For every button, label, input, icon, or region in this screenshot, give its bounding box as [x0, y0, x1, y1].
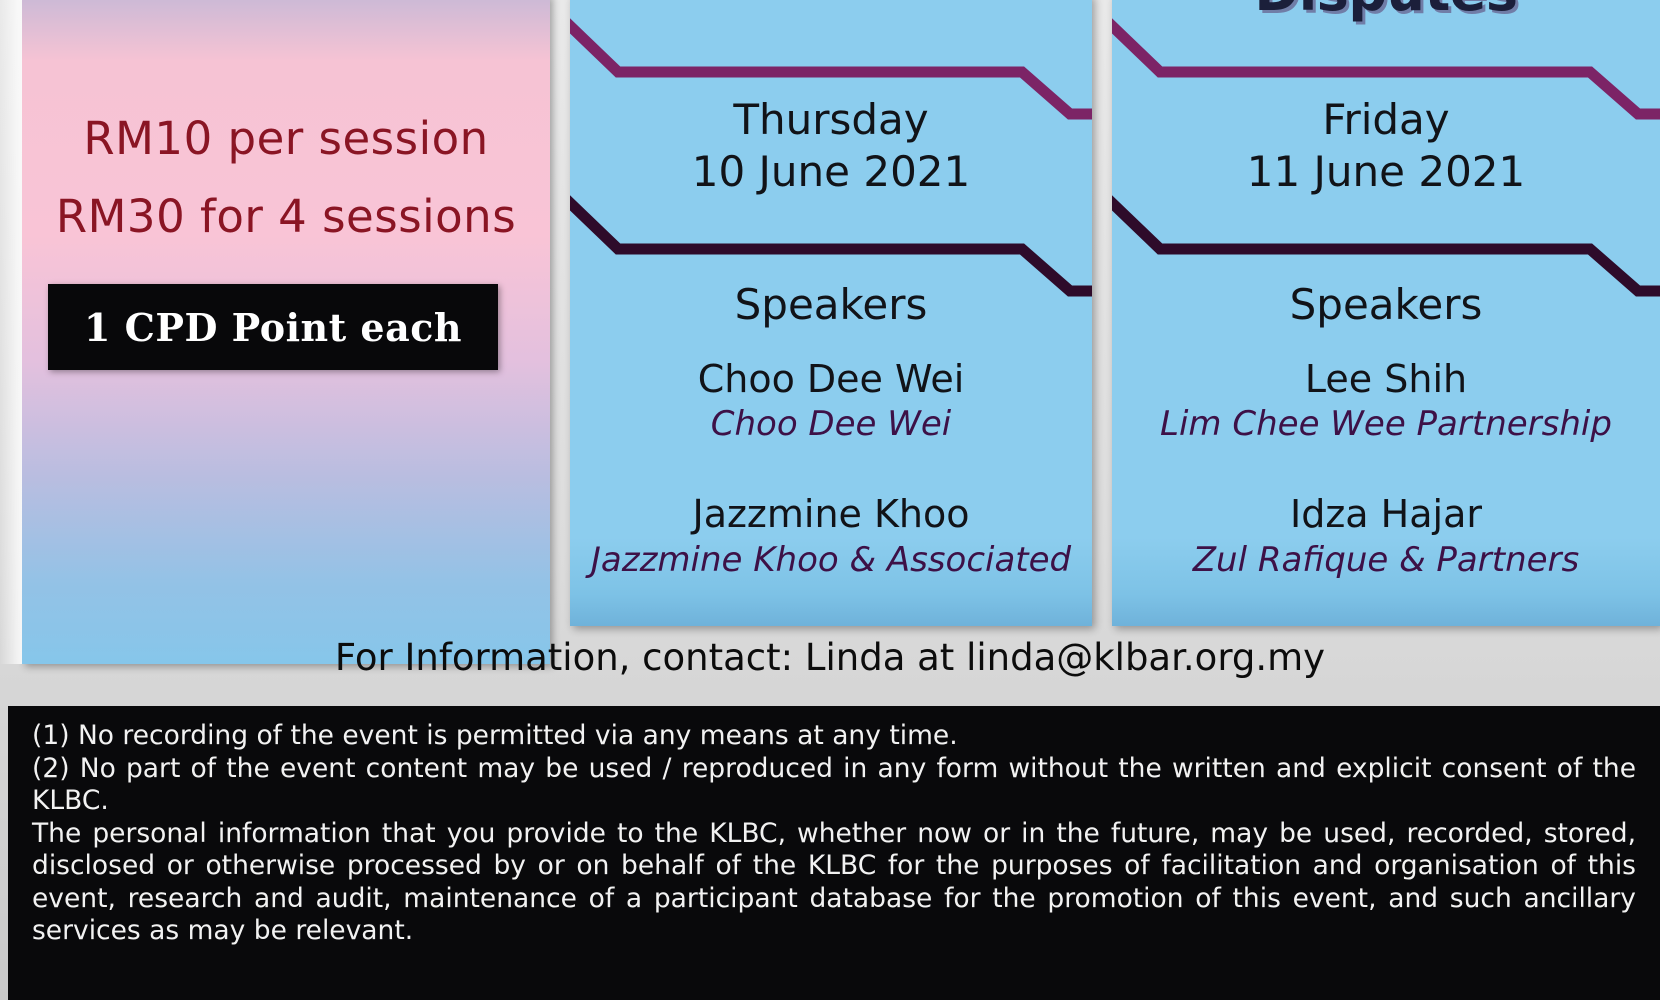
- speakers-heading-friday: Speakers: [1112, 280, 1660, 329]
- speaker-name: Jazzmine Khoo: [570, 492, 1092, 536]
- price-per-session: RM10 per session: [22, 112, 550, 165]
- day-panel-friday: Disputes Friday 11 June 2021 Speakers Le…: [1112, 0, 1660, 626]
- pricing-panel: RM10 per session RM30 for 4 sessions 1 C…: [22, 0, 550, 664]
- speakers-heading-thursday: Speakers: [570, 280, 1092, 329]
- speaker-firm: Choo Dee Wei: [570, 404, 1092, 444]
- speaker-firm: Jazzmine Khoo & Associated: [570, 540, 1092, 580]
- day-panel-thursday: Thursday 10 June 2021 Speakers Choo Dee …: [570, 0, 1092, 626]
- speaker-name: Idza Hajar: [1112, 492, 1660, 536]
- disclaimer-block: (1) No recording of the event is permitt…: [8, 706, 1660, 1000]
- disclaimer-line-2: (2) No part of the event content may be …: [32, 753, 1636, 818]
- contact-line: For Information, contact: Linda at linda…: [0, 636, 1660, 679]
- session-title-partial: Disputes: [1112, 0, 1660, 23]
- price-bundle: RM30 for 4 sessions: [22, 190, 550, 243]
- cpd-badge: 1 CPD Point each: [48, 284, 498, 370]
- event-poster: RM10 per session RM30 for 4 sessions 1 C…: [0, 0, 1660, 1000]
- speaker-name: Lee Shih: [1112, 357, 1660, 401]
- day-date-friday: 11 June 2021: [1112, 146, 1660, 198]
- cpd-badge-label: 1 CPD Point each: [84, 305, 462, 350]
- disclaimer-line-3: The personal information that you provid…: [32, 818, 1636, 948]
- speaker-name: Choo Dee Wei: [570, 357, 1092, 401]
- speaker-firm: Lim Chee Wee Partnership: [1112, 404, 1660, 444]
- day-weekday-friday: Friday: [1112, 94, 1660, 146]
- speaker-firm: Zul Rafique & Partners: [1112, 540, 1660, 580]
- day-date-thursday: 10 June 2021: [570, 146, 1092, 198]
- day-weekday-thursday: Thursday: [570, 94, 1092, 146]
- disclaimer-line-1: (1) No recording of the event is permitt…: [32, 720, 1636, 753]
